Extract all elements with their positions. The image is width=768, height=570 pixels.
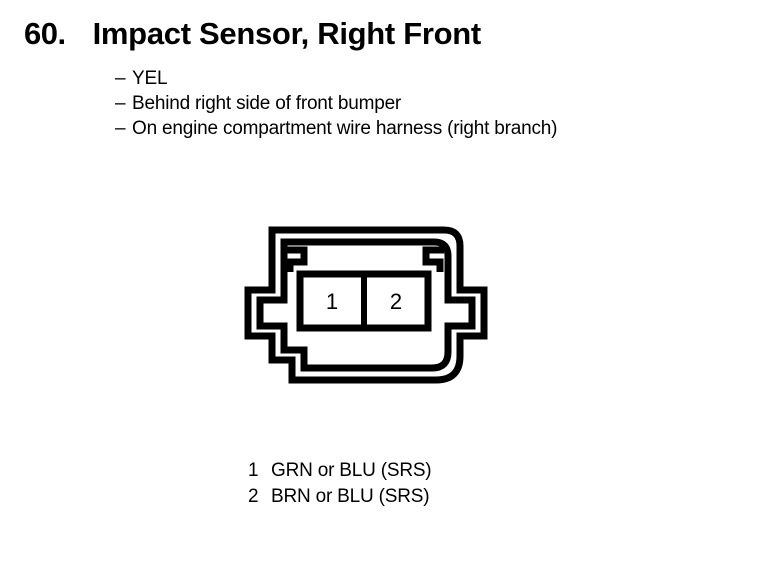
connector-details-list: – YEL – Behind right side of front bumpe… bbox=[115, 66, 755, 141]
pin-legend: 1 GRN or BLU (SRS) 2 BRN or BLU (SRS) bbox=[248, 458, 568, 510]
legend-row: 2 BRN or BLU (SRS) bbox=[248, 484, 568, 510]
list-item: – YEL bbox=[115, 66, 755, 91]
latch-notch-left-icon bbox=[286, 250, 304, 272]
list-item: – On engine compartment wire harness (ri… bbox=[115, 116, 755, 141]
legend-row: 1 GRN or BLU (SRS) bbox=[248, 458, 568, 484]
connector-detail-page: 60. Impact Sensor, Right Front – YEL – B… bbox=[0, 0, 768, 570]
dash-icon: – bbox=[115, 91, 132, 116]
dash-icon: – bbox=[115, 66, 132, 91]
legend-pin-number: 2 bbox=[248, 484, 271, 510]
legend-pin-number: 1 bbox=[248, 458, 271, 484]
pin-label-2: 2 bbox=[390, 289, 402, 314]
connector-number: 60. bbox=[24, 16, 66, 52]
pin-label-1: 1 bbox=[326, 289, 338, 314]
legend-pin-description: GRN or BLU (SRS) bbox=[271, 458, 431, 484]
connector-outline-graphic: 1 2 bbox=[228, 208, 498, 408]
page-header: 60. Impact Sensor, Right Front bbox=[24, 16, 744, 52]
list-item: – Behind right side of front bumper bbox=[115, 91, 755, 116]
detail-text-harness: On engine compartment wire harness (righ… bbox=[132, 116, 557, 141]
detail-text-wire-color: YEL bbox=[132, 66, 167, 91]
connector-diagram: 1 2 bbox=[228, 208, 498, 408]
detail-text-location: Behind right side of front bumper bbox=[132, 91, 401, 116]
dash-icon: – bbox=[115, 116, 132, 141]
latch-notch-right-icon bbox=[426, 250, 444, 272]
page-title: Impact Sensor, Right Front bbox=[93, 16, 481, 52]
legend-pin-description: BRN or BLU (SRS) bbox=[271, 484, 429, 510]
